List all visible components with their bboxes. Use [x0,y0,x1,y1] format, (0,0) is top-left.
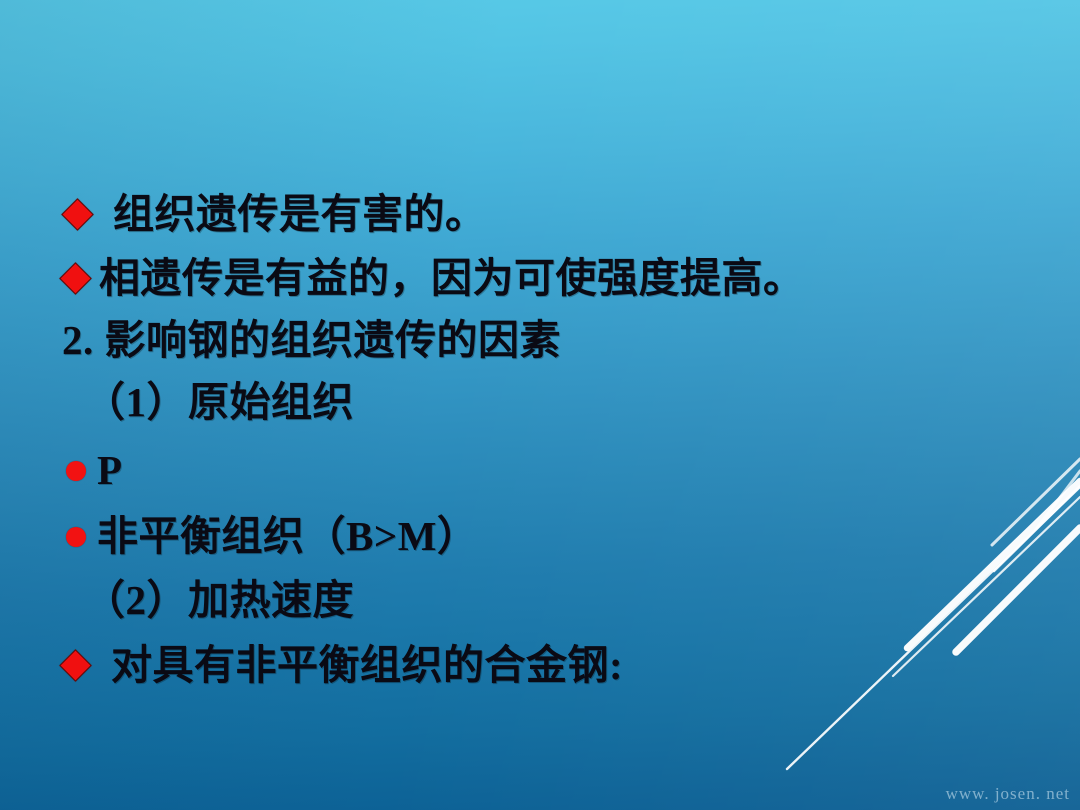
diamond-bullet-icon [59,262,92,295]
sub-line-4-text: （1）原始组织 [84,382,354,423]
bullet-line-2-text: 相遗传是有益的，因为可使强度提高。 [99,258,805,299]
bullet-line-8-text: 对具有非平衡组织的合金钢: [111,645,623,686]
sub-line-7-text: （2）加热速度 [84,580,354,621]
slide-canvas: 组织遗传是有害的。 相遗传是有益的，因为可使强度提高。 2. 影响钢的组织遗传的… [0,0,1080,810]
bullet-line-5-text: P [97,450,123,491]
bullet-line-8: 对具有非平衡组织的合金钢: [64,645,623,686]
bullet-line-5: P [66,450,123,491]
bullet-line-6: 非平衡组织（B>M） [66,516,478,557]
slide-body: 组织遗传是有害的。 相遗传是有益的，因为可使强度提高。 2. 影响钢的组织遗传的… [0,0,1080,810]
heading-line-3: 2. 影响钢的组织遗传的因素 [62,320,561,361]
bullet-line-1: 组织遗传是有害的。 [66,194,487,235]
bullet-line-2: 相遗传是有益的，因为可使强度提高。 [64,258,805,299]
diamond-bullet-icon [61,198,94,231]
circle-bullet-icon [66,461,86,481]
bullet-line-6-text: 非平衡组织（B>M） [97,516,478,557]
circle-bullet-icon [66,527,86,547]
watermark: www. josen. net [946,784,1070,804]
sub-line-7: （2）加热速度 [84,580,354,621]
bullet-line-1-text: 组织遗传是有害的。 [113,194,487,235]
diamond-bullet-icon [59,649,92,682]
heading-line-3-text: 2. 影响钢的组织遗传的因素 [62,320,561,361]
sub-line-4: （1）原始组织 [84,382,354,423]
